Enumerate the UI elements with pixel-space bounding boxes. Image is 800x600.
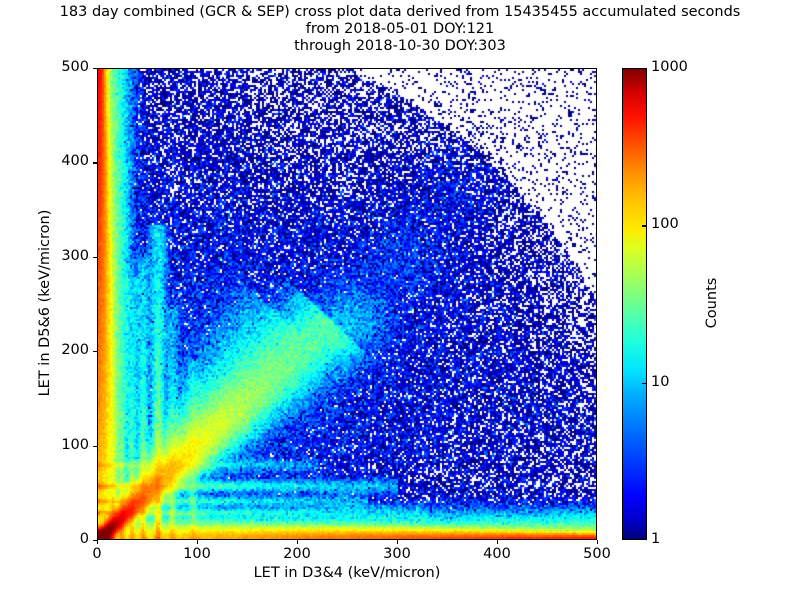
x-axis-label: LET in D3&4 (keV/micron)	[97, 565, 597, 581]
colorbar-tick-mark	[642, 383, 647, 384]
x-tick-mark	[397, 540, 398, 544]
page-title: 183 day combined (GCR & SEP) cross plot …	[0, 4, 800, 55]
x-tick-label: 500	[567, 546, 627, 562]
x-tick-mark	[497, 540, 498, 544]
x-tick-mark	[297, 540, 298, 544]
x-tick-mark	[597, 540, 598, 544]
x-tick-label: 0	[67, 546, 127, 562]
colorbar-tick-label: 10	[651, 374, 669, 390]
plot-axes	[97, 68, 597, 540]
y-tick-mark	[93, 540, 97, 541]
colorbar-tick-label: 100	[651, 216, 679, 232]
figure-canvas: 183 day combined (GCR & SEP) cross plot …	[0, 0, 800, 600]
colorbar-label: Counts	[704, 203, 720, 403]
y-axis-label: LET in D5&6 (keV/micron)	[37, 153, 53, 453]
title-line-1: 183 day combined (GCR & SEP) cross plot …	[0, 4, 800, 21]
colorbar-tick-mark	[642, 225, 647, 226]
title-line-2: from 2018-05-01 DOY:121	[0, 21, 800, 38]
y-tick-mark	[93, 351, 97, 352]
x-tick-mark	[197, 540, 198, 544]
y-tick-label: 500	[29, 59, 89, 75]
y-tick-label: 0	[29, 531, 89, 547]
x-tick-label: 300	[367, 546, 427, 562]
x-tick-label: 100	[167, 546, 227, 562]
colorbar-tick-label: 1000	[651, 59, 688, 75]
scatter-density-plot	[98, 69, 597, 540]
y-tick-mark	[93, 68, 97, 69]
title-line-3: through 2018-10-30 DOY:303	[0, 38, 800, 55]
colorbar-tick-label: 1	[651, 531, 660, 547]
x-tick-label: 400	[467, 546, 527, 562]
x-tick-mark	[97, 540, 98, 544]
y-tick-mark	[93, 257, 97, 258]
colorbar	[622, 68, 647, 540]
y-tick-mark	[93, 162, 97, 163]
x-tick-label: 200	[267, 546, 327, 562]
y-tick-mark	[93, 446, 97, 447]
